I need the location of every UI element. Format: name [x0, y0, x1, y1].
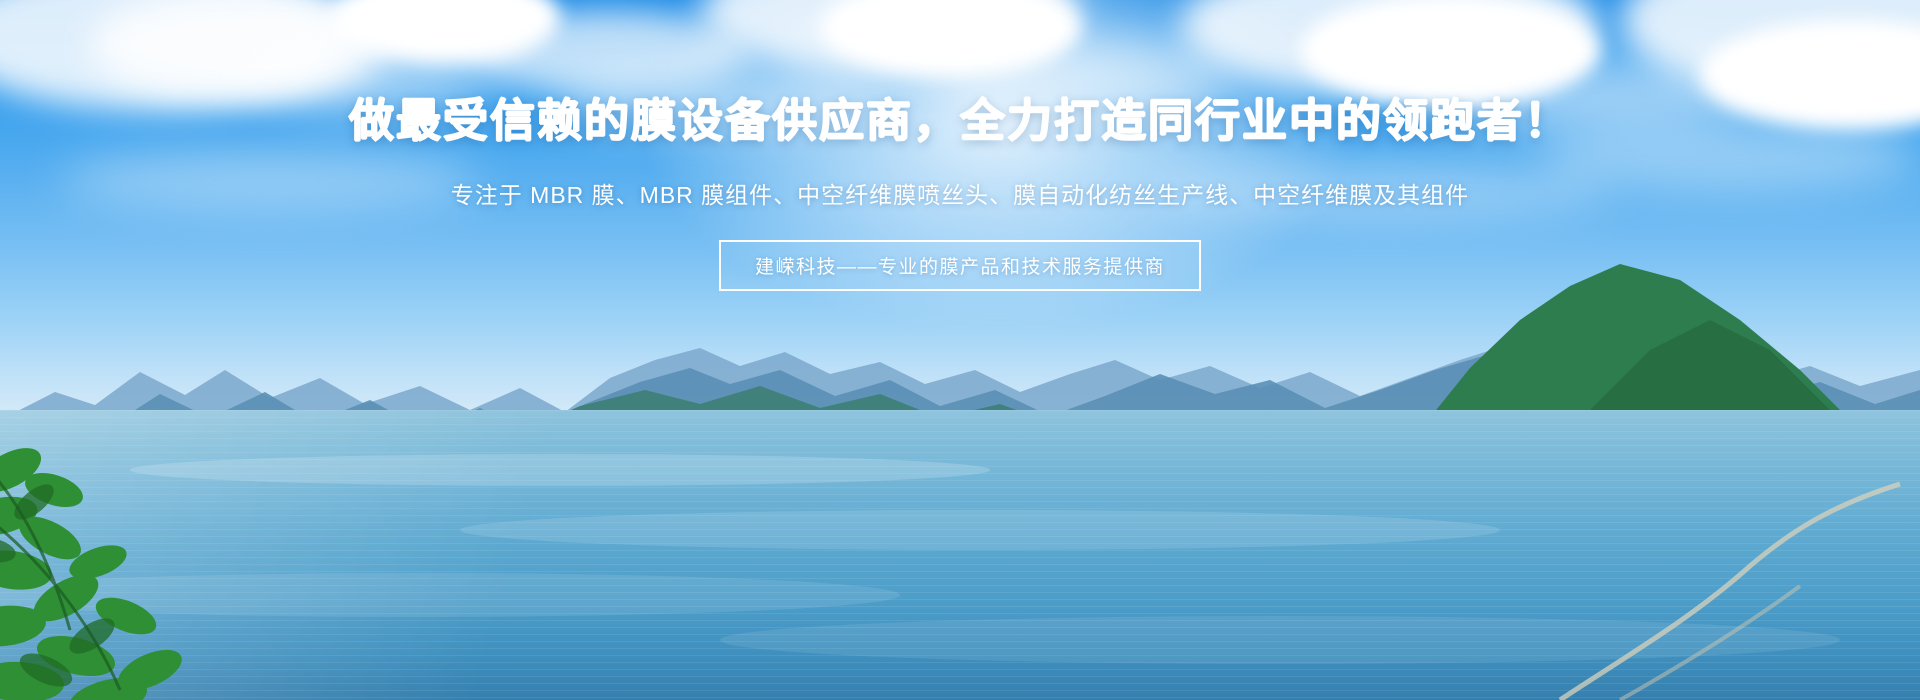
banner-headline: 做最受信赖的膜设备供应商，全力打造同行业中的领跑者！: [0, 96, 1920, 146]
mountain-road: [1500, 470, 1920, 700]
banner-text-overlay: 做最受信赖的膜设备供应商，全力打造同行业中的领跑者！ 专注于 MBR 膜、MBR…: [0, 0, 1920, 291]
foreground-foliage-left: [0, 430, 280, 700]
banner-subline: 专注于 MBR 膜、MBR 膜组件、中空纤维膜喷丝头、膜自动化纺丝生产线、中空纤…: [0, 176, 1920, 210]
hero-banner: 做最受信赖的膜设备供应商，全力打造同行业中的领跑者！ 专注于 MBR 膜、MBR…: [0, 0, 1920, 700]
banner-tagline-box: 建嵘科技——专业的膜产品和技术服务提供商: [719, 240, 1201, 291]
